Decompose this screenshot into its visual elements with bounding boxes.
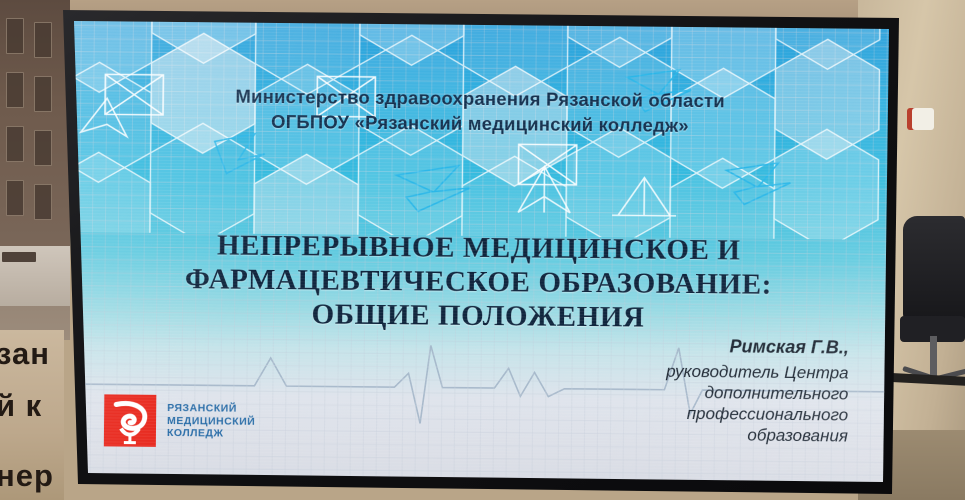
tv-screen[interactable]: Министерство здравоохранения Рязанской о… (54, 2, 902, 498)
poster-fragment-3: нер (0, 458, 54, 494)
poster-fragment-1: зан (0, 336, 50, 372)
bowl-of-hygieia-icon (104, 394, 156, 446)
college-logo: РЯЗАНСКИЙ МЕДИЦИНСКИЙ КОЛЛЕДЖ (104, 394, 256, 447)
logo-line-3: КОЛЛЕДЖ (167, 427, 255, 440)
author-block: Римская Г.В., руководитель Центра дополн… (508, 334, 849, 446)
bench (2, 252, 36, 262)
presentation-slide: Министерство здравоохранения Рязанской о… (63, 12, 894, 498)
author-role-4: образования (508, 422, 848, 446)
wall-switch[interactable] (912, 108, 934, 130)
logo-line-1: РЯЗАНСКИЙ (167, 402, 255, 415)
author-name: Римская Г.В., (509, 334, 849, 358)
slide-header: Министерство здравоохранения Рязанской о… (67, 82, 893, 140)
photo-scene: зан й к нер (0, 0, 965, 500)
poster-fragment-2: й к (0, 388, 42, 424)
slide-title: НЕПРЕРЫВНОЕ МЕДИЦИНСКОЕ И ФАРМАЦЕВТИЧЕСК… (95, 227, 862, 336)
office-chair-back (903, 216, 965, 324)
logo-line-2: МЕДИЦИНСКИЙ (167, 415, 255, 428)
office-chair-stem (930, 336, 937, 378)
logo-text: РЯЗАНСКИЙ МЕДИЦИНСКИЙ КОЛЛЕДЖ (167, 402, 256, 440)
television: Министерство здравоохранения Рязанской о… (54, 2, 902, 498)
